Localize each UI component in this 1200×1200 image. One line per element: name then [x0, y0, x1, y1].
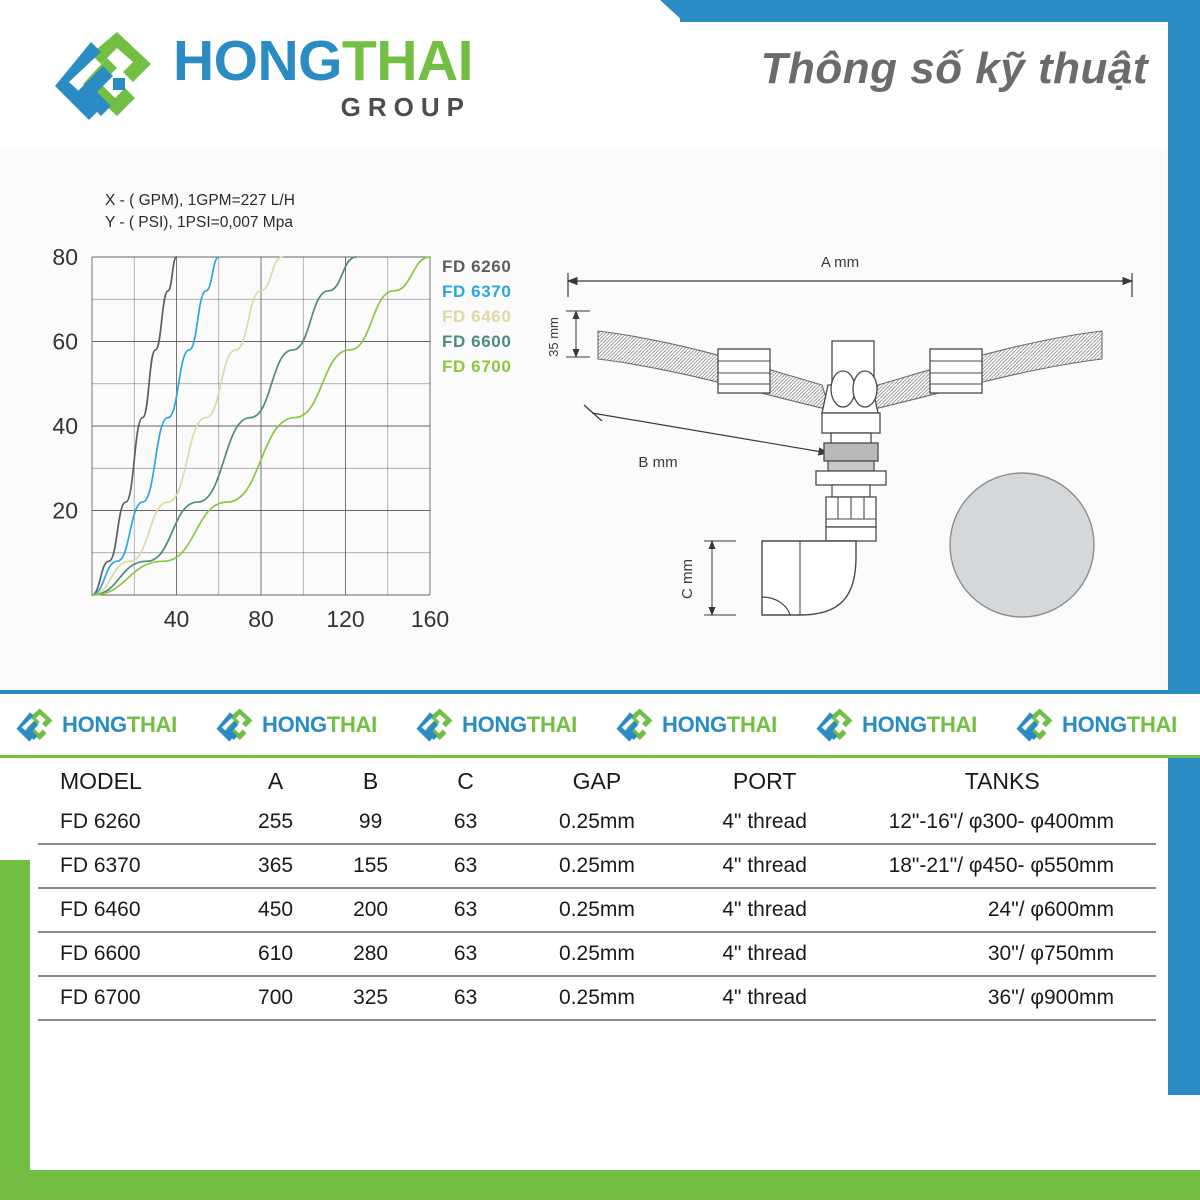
col-header-a: A: [228, 768, 323, 801]
watermark-name-hong: HONG: [862, 712, 927, 737]
cell-c: 63: [418, 844, 513, 888]
cell-model: FD 6370: [38, 844, 228, 888]
hongthai-logo-icon: [816, 707, 856, 743]
brand-suffix-group: GROUP: [341, 94, 471, 120]
table-row: FD 6700700325630.25mm4" thread36"/ φ900m…: [38, 976, 1156, 1020]
dimension-c-label: C mm: [679, 559, 696, 599]
watermark-name-thai: THAI: [1127, 712, 1177, 737]
cell-b: 155: [323, 844, 418, 888]
legend-item-fd-6260: FD 6260: [442, 257, 511, 277]
brand-name-thai: THAI: [342, 33, 473, 90]
bottom-green-bar: [0, 1170, 1200, 1200]
table-row: FD 626025599630.25mm4" thread12"-16"/ φ3…: [38, 801, 1156, 844]
page-header: HONG THAI GROUP Thông số kỹ thuật: [0, 0, 1200, 150]
cell-port: 4" thread: [681, 888, 849, 932]
col-header-gap: GAP: [513, 768, 681, 801]
page-title: Thông số kỹ thuật: [761, 44, 1148, 94]
cell-tanks: 12"-16"/ φ300- φ400mm: [848, 801, 1156, 844]
cell-port: 4" thread: [681, 932, 849, 976]
cell-tanks: 30"/ φ750mm: [848, 932, 1156, 976]
watermark-name-hong: HONG: [62, 712, 127, 737]
hongthai-logo-icon: [16, 707, 56, 743]
dimension-b-label: B mm: [638, 454, 677, 471]
cell-b: 280: [323, 932, 418, 976]
watermark-name-hong: HONG: [262, 712, 327, 737]
specification-table: MODEL A B C GAP PORT TANKS FD 6260255996…: [38, 768, 1156, 1021]
chart-note-x: X - ( GPM), 1GPM=227 L/H: [105, 190, 550, 212]
cell-b: 325: [323, 976, 418, 1020]
hongthai-logo-icon: [416, 707, 456, 743]
cell-a: 255: [228, 801, 323, 844]
performance-chart: X - ( GPM), 1GPM=227 L/H Y - ( PSI), 1PS…: [30, 190, 550, 659]
watermark-name-thai: THAI: [127, 712, 177, 737]
chart-svg: 204060804080120160: [30, 249, 460, 659]
brand-logo: HONG THAI GROUP: [55, 28, 473, 124]
dimension-a-label: A mm: [821, 254, 859, 271]
watermark-strip: HONGTHAIHONGTHAIHONGTHAIHONGTHAIHONGTHAI…: [0, 690, 1200, 758]
watermark-name-hong: HONG: [662, 712, 727, 737]
chart-legend: FD 6260FD 6370FD 6460FD 6600FD 6700: [442, 257, 511, 377]
legend-item-fd-6700: FD 6700: [442, 357, 511, 377]
cell-gap: 0.25mm: [513, 844, 681, 888]
cell-c: 63: [418, 888, 513, 932]
cell-c: 63: [418, 801, 513, 844]
watermark-logo: HONGTHAI: [200, 707, 400, 743]
cell-gap: 0.25mm: [513, 801, 681, 844]
watermark-logo: HONGTHAI: [0, 707, 200, 743]
product-technical-drawing: A mm 35 mm: [540, 245, 1160, 675]
col-header-model: MODEL: [38, 768, 228, 801]
cell-a: 450: [228, 888, 323, 932]
cell-port: 4" thread: [681, 844, 849, 888]
table-head: MODEL A B C GAP PORT TANKS: [38, 768, 1156, 801]
right-blue-bar: [1168, 0, 1200, 1095]
y-tick-80: 80: [52, 249, 78, 270]
cell-port: 4" thread: [681, 801, 849, 844]
watermark-name-hong: HONG: [1062, 712, 1127, 737]
watermark-name-thai: THAI: [927, 712, 977, 737]
y-tick-40: 40: [52, 413, 78, 439]
cell-gap: 0.25mm: [513, 932, 681, 976]
cell-gap: 0.25mm: [513, 888, 681, 932]
watermark-logo: HONGTHAI: [600, 707, 800, 743]
x-tick-160: 160: [411, 606, 449, 632]
content-panel: X - ( GPM), 1GPM=227 L/H Y - ( PSI), 1PS…: [0, 150, 1168, 690]
cell-b: 200: [323, 888, 418, 932]
col-header-port: PORT: [681, 768, 849, 801]
x-tick-40: 40: [164, 606, 190, 632]
chart-plot-area: 204060804080120160 FD 6260FD 6370FD 6460…: [30, 249, 460, 659]
brand-name-hong: HONG: [173, 33, 342, 90]
x-tick-120: 120: [326, 606, 364, 632]
cell-b: 99: [323, 801, 418, 844]
hongthai-logo-icon: [1016, 707, 1056, 743]
cell-tanks: 18"-21"/ φ450- φ550mm: [848, 844, 1156, 888]
brand-wordmark: HONG THAI GROUP: [173, 33, 473, 120]
watermark-name-thai: THAI: [727, 712, 777, 737]
cell-model: FD 6600: [38, 932, 228, 976]
table-row: FD 6460450200630.25mm4" thread24"/ φ600m…: [38, 888, 1156, 932]
cell-c: 63: [418, 976, 513, 1020]
spec-sheet-page: HONG THAI GROUP Thông số kỹ thuật X - ( …: [0, 0, 1200, 1200]
x-tick-80: 80: [248, 606, 274, 632]
watermark-name-hong: HONG: [462, 712, 527, 737]
cell-gap: 0.25mm: [513, 976, 681, 1020]
col-header-b: B: [323, 768, 418, 801]
cell-model: FD 6260: [38, 801, 228, 844]
cell-port: 4" thread: [681, 976, 849, 1020]
legend-item-fd-6370: FD 6370: [442, 282, 511, 302]
y-tick-20: 20: [52, 497, 78, 523]
cell-model: FD 6460: [38, 888, 228, 932]
cell-model: FD 6700: [38, 976, 228, 1020]
watermark-logo: HONGTHAI: [400, 707, 600, 743]
watermark-logo: HONGTHAI: [1000, 707, 1200, 743]
dimension-35-label: 35 mm: [546, 317, 561, 357]
cell-a: 610: [228, 932, 323, 976]
hongthai-logo-icon: [216, 707, 256, 743]
spec-table-element: MODEL A B C GAP PORT TANKS FD 6260255996…: [38, 768, 1156, 1021]
cell-a: 700: [228, 976, 323, 1020]
cell-a: 365: [228, 844, 323, 888]
y-tick-60: 60: [52, 328, 78, 354]
watermark-logo: HONGTHAI: [800, 707, 1000, 743]
table-row: FD 6370365155630.25mm4" thread18"-21"/ φ…: [38, 844, 1156, 888]
table-body: FD 626025599630.25mm4" thread12"-16"/ φ3…: [38, 801, 1156, 1020]
legend-item-fd-6600: FD 6600: [442, 332, 511, 352]
drawing-svg: A mm 35 mm: [540, 245, 1160, 675]
cell-tanks: 36"/ φ900mm: [848, 976, 1156, 1020]
table-header-row: MODEL A B C GAP PORT TANKS: [38, 768, 1156, 801]
col-header-tanks: TANKS: [848, 768, 1156, 801]
legend-item-fd-6460: FD 6460: [442, 307, 511, 327]
left-green-bar: [0, 860, 30, 1200]
watermark-name-thai: THAI: [527, 712, 577, 737]
cell-c: 63: [418, 932, 513, 976]
col-header-c: C: [418, 768, 513, 801]
hongthai-logo-icon: [616, 707, 656, 743]
chart-note-y: Y - ( PSI), 1PSI=0,007 Mpa: [105, 212, 550, 234]
hongthai-logo-icon: [55, 28, 159, 124]
cell-tanks: 24"/ φ600mm: [848, 888, 1156, 932]
table-row: FD 6600610280630.25mm4" thread30"/ φ750m…: [38, 932, 1156, 976]
watermark-name-thai: THAI: [327, 712, 377, 737]
